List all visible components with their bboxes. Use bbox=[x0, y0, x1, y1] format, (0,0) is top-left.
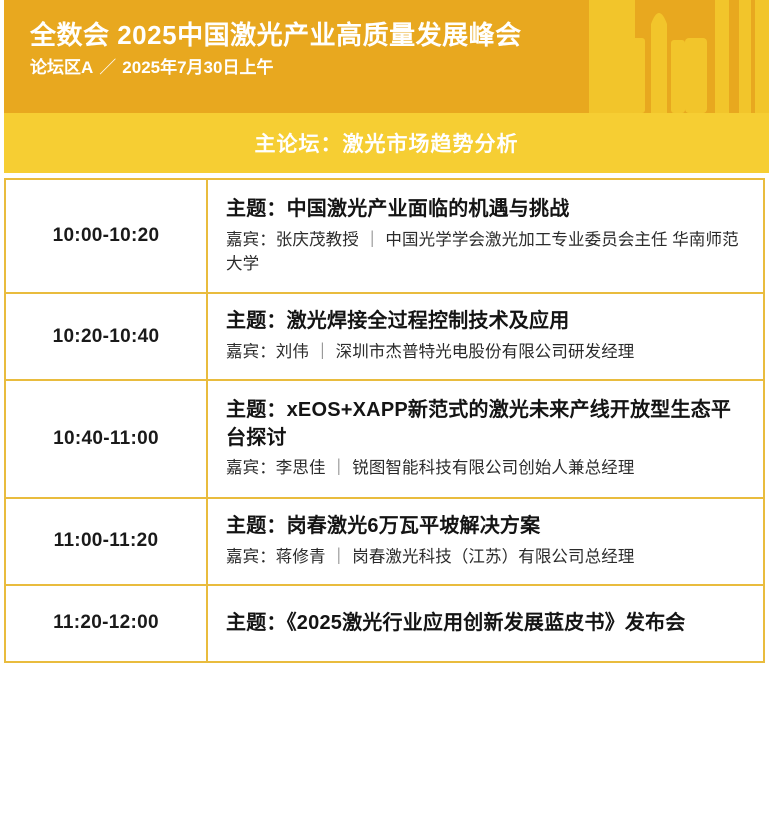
session-title: 主题：中国激光产业面临的机遇与挑战 bbox=[226, 196, 745, 224]
guest-name: 嘉宾：张庆茂教授 bbox=[226, 231, 359, 249]
venue-label: 论坛区A bbox=[30, 58, 93, 77]
session-title: 主题：《2025激光行业应用创新发展蓝皮书》发布会 bbox=[226, 610, 745, 638]
skyline-decoration bbox=[589, 0, 769, 113]
session-detail: 主题：xEOS+XAPP新范式的激光未来产线开放型生态平台探讨 嘉宾：李思佳｜锐… bbox=[207, 380, 764, 498]
table-row: 11:20-12:00 主题：《2025激光行业应用创新发展蓝皮书》发布会 bbox=[5, 585, 764, 663]
session-time: 10:40-11:00 bbox=[5, 380, 207, 498]
forum-title: 主论坛：激光市场趋势分析 bbox=[255, 128, 519, 158]
guest-name: 嘉宾：李思佳 bbox=[226, 459, 326, 477]
guest-separator: ｜ bbox=[326, 548, 353, 566]
session-title: 主题：xEOS+XAPP新范式的激光未来产线开放型生态平台探讨 bbox=[226, 397, 745, 452]
session-time: 11:20-12:00 bbox=[5, 585, 207, 663]
session-time: 11:00-11:20 bbox=[5, 498, 207, 585]
session-guest: 嘉宾：蒋修青｜岗春激光科技（江苏）有限公司总经理 bbox=[226, 546, 745, 570]
event-title: 全数会 2025中国激光产业高质量发展峰会 bbox=[30, 20, 522, 51]
session-detail: 主题：激光焊接全过程控制技术及应用 嘉宾：刘伟｜深圳市杰普特光电股份有限公司研发… bbox=[207, 293, 764, 380]
guest-affiliation: 锐图智能科技有限公司创始人兼总经理 bbox=[352, 459, 634, 477]
banner-text-block: 全数会 2025中国激光产业高质量发展峰会 论坛区A／2025年7月30日上午 bbox=[30, 20, 522, 79]
table-row: 10:00-10:20 主题：中国激光产业面临的机遇与挑战 嘉宾：张庆茂教授｜中… bbox=[5, 179, 764, 293]
session-guest: 嘉宾：张庆茂教授｜中国光学学会激光加工专业委员会主任 华南师范大学 bbox=[226, 229, 745, 277]
guest-separator: ｜ bbox=[326, 459, 353, 477]
session-detail: 主题：岗春激光6万瓦平坡解决方案 嘉宾：蒋修青｜岗春激光科技（江苏）有限公司总经… bbox=[207, 498, 764, 585]
guest-separator: ｜ bbox=[309, 343, 336, 361]
session-time: 10:20-10:40 bbox=[5, 293, 207, 380]
session-guest: 嘉宾：李思佳｜锐图智能科技有限公司创始人兼总经理 bbox=[226, 457, 745, 481]
guest-affiliation: 深圳市杰普特光电股份有限公司研发经理 bbox=[336, 343, 635, 361]
event-banner: 全数会 2025中国激光产业高质量发展峰会 论坛区A／2025年7月30日上午 bbox=[4, 0, 769, 113]
session-time: 10:00-10:20 bbox=[5, 179, 207, 293]
agenda-poster: 全数会 2025中国激光产业高质量发展峰会 论坛区A／2025年7月30日上午 … bbox=[0, 0, 769, 814]
agenda-table: 10:00-10:20 主题：中国激光产业面临的机遇与挑战 嘉宾：张庆茂教授｜中… bbox=[4, 178, 765, 663]
table-row: 11:00-11:20 主题：岗春激光6万瓦平坡解决方案 嘉宾：蒋修青｜岗春激光… bbox=[5, 498, 764, 585]
forum-banner: 主论坛：激光市场趋势分析 bbox=[4, 113, 769, 173]
event-subtitle: 论坛区A／2025年7月30日上午 bbox=[30, 58, 522, 78]
guest-name: 嘉宾：蒋修青 bbox=[226, 548, 326, 566]
session-title: 主题：岗春激光6万瓦平坡解决方案 bbox=[226, 513, 745, 541]
table-row: 10:20-10:40 主题：激光焊接全过程控制技术及应用 嘉宾：刘伟｜深圳市杰… bbox=[5, 293, 764, 380]
session-detail: 主题：《2025激光行业应用创新发展蓝皮书》发布会 bbox=[207, 585, 764, 663]
guest-affiliation: 岗春激光科技（江苏）有限公司总经理 bbox=[352, 548, 634, 566]
guest-separator: ｜ bbox=[359, 231, 386, 249]
session-title: 主题：激光焊接全过程控制技术及应用 bbox=[226, 308, 745, 336]
guest-name: 嘉宾：刘伟 bbox=[226, 343, 309, 361]
session-detail: 主题：中国激光产业面临的机遇与挑战 嘉宾：张庆茂教授｜中国光学学会激光加工专业委… bbox=[207, 179, 764, 293]
subtitle-separator: ／ bbox=[93, 58, 122, 77]
table-row: 10:40-11:00 主题：xEOS+XAPP新范式的激光未来产线开放型生态平… bbox=[5, 380, 764, 498]
session-guest: 嘉宾：刘伟｜深圳市杰普特光电股份有限公司研发经理 bbox=[226, 341, 745, 365]
event-date: 2025年7月30日上午 bbox=[122, 58, 273, 77]
